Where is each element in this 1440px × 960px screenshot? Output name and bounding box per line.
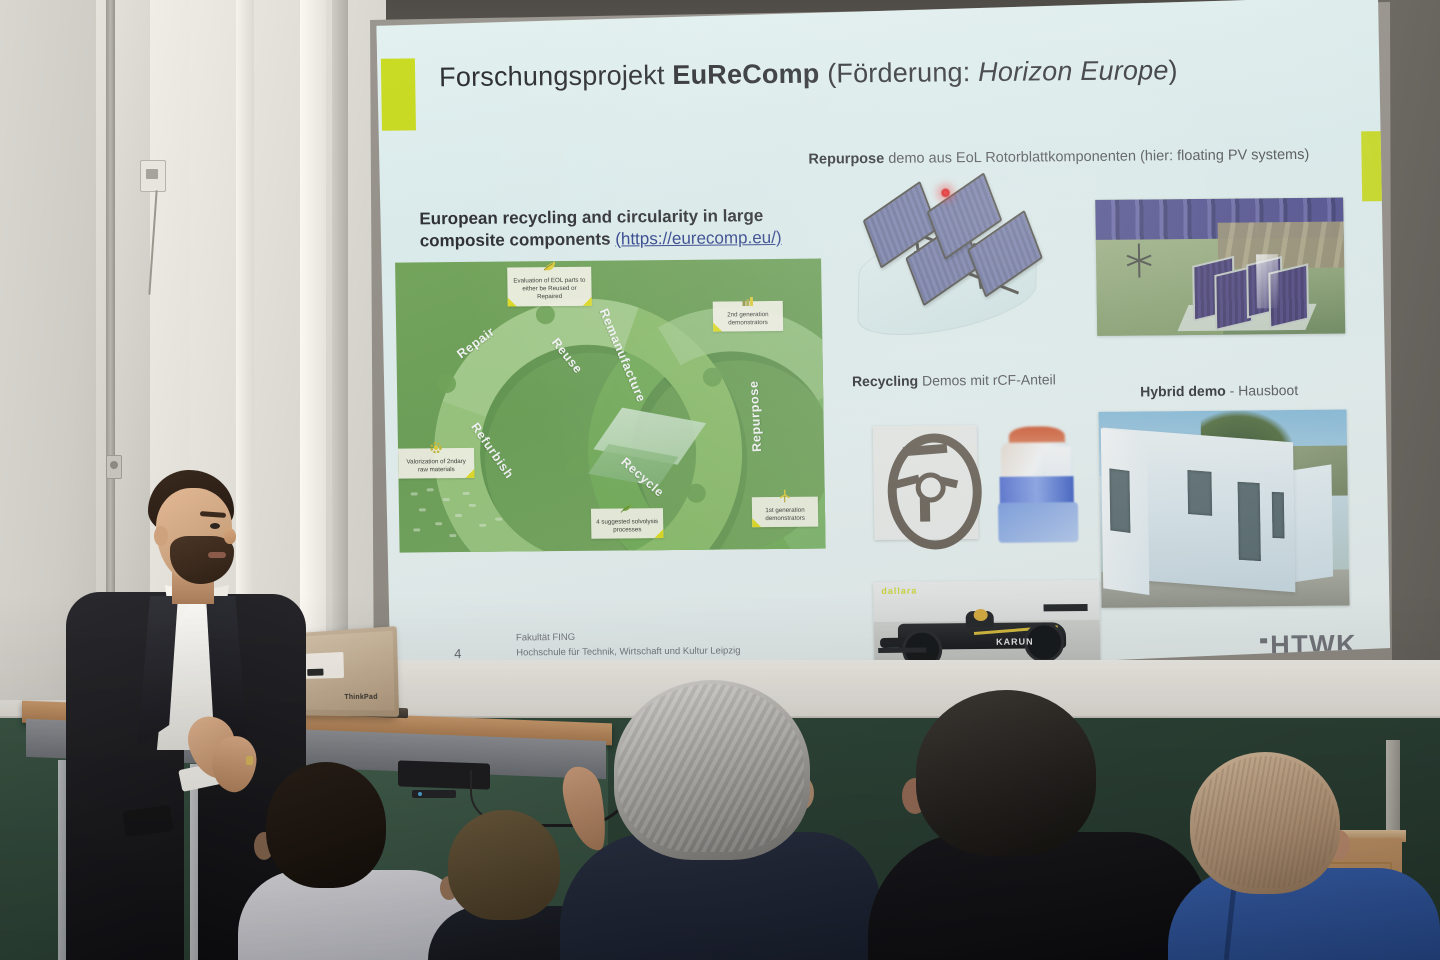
- callout-text: 4 suggested solvolysis processes: [596, 518, 658, 534]
- factory-icon: [740, 293, 755, 308]
- leaves-icon: [619, 500, 634, 515]
- callout-solvolysis: 4 suggested solvolysis processes: [591, 508, 663, 539]
- gear-icon: [428, 440, 443, 455]
- callout-eol-evaluation: Evaluation of EOL parts to either be Reu…: [507, 267, 592, 306]
- audience-raised-hand: [559, 763, 611, 854]
- presenter-nose: [224, 528, 236, 544]
- puzzle-notch: [566, 457, 585, 476]
- screenshot-root: Forschungsprojekt EuReComp (Förderung: H…: [0, 0, 1440, 960]
- rcf-steering-wheel-photo: [873, 425, 979, 540]
- circular-economy-diagram: Repair Reuse Remanufacture Repurpose Rec…: [395, 259, 826, 553]
- hybrid-description: - Hausboot: [1226, 382, 1299, 399]
- eurecomp-link[interactable]: (https://eurecomp.eu/): [615, 228, 782, 249]
- dallara-brand-text: dallara: [881, 586, 917, 596]
- footer-institution: Hochschule für Technik, Wirtschaft und K…: [516, 644, 740, 661]
- title-close: ): [1168, 55, 1178, 85]
- hybrid-label: Hybrid demo: [1140, 383, 1226, 400]
- left-section-heading: European recycling and circularity in la…: [419, 205, 810, 253]
- repurpose-caption: Repurpose demo aus EoL Rotorblattkompone…: [808, 146, 1368, 167]
- accent-block-left: [381, 58, 416, 130]
- puzzle-notch: [437, 374, 456, 393]
- callout-text: 1st generation demonstrators: [765, 507, 805, 523]
- composite-simulation-render: [989, 424, 1093, 549]
- callout-text: Evaluation of EOL parts to either be Reu…: [513, 277, 585, 301]
- hybrid-demo-caption: Hybrid demo - Hausboot: [1140, 382, 1298, 400]
- audience-member-blue-shirt: [1168, 752, 1440, 960]
- laptop-brand-text: ThinkPad: [344, 694, 377, 701]
- wall-socket[interactable]: [140, 160, 166, 192]
- callout-text: 2nd generation demonstrators: [727, 311, 768, 327]
- leaf-icon: [542, 259, 557, 274]
- title-project-name: EuReComp: [672, 59, 820, 90]
- recycling-description: Demos mit rCF-Anteil: [918, 371, 1056, 388]
- audience-member-grey-hair: [560, 680, 880, 960]
- callout-valorization: Valorization of 2ndary raw materials: [398, 448, 474, 479]
- puzzle-notch: [687, 484, 706, 503]
- slide-title: Forschungsprojekt EuReComp (Förderung: H…: [439, 54, 1319, 93]
- audience-member-dark: [868, 690, 1208, 960]
- recycling-demo-images: [871, 424, 1099, 550]
- title-prefix: Forschungsprojekt: [439, 60, 673, 92]
- slide-footer: Fakultät FING Hochschule für Technik, Wi…: [516, 629, 741, 661]
- door-frame-edge: [332, 0, 348, 730]
- projection-screen: Forschungsprojekt EuReComp (Förderung: H…: [366, 0, 1391, 692]
- callout-text: Valorization of 2ndary raw materials: [406, 458, 465, 474]
- title-funding-open: (Förderung:: [819, 57, 978, 89]
- presenter-ear: [154, 526, 168, 546]
- puzzle-notch: [536, 305, 555, 324]
- laser-pointer-dot: [940, 187, 951, 198]
- car-body-text: KARUN: [996, 637, 1034, 647]
- callout-first-generation: 1st generation demonstrators: [752, 497, 818, 528]
- logo-bar-icon: [1260, 638, 1267, 643]
- hausboot-hybrid-demo-photo: [1098, 410, 1349, 608]
- diagram-ground-texture: [407, 483, 528, 542]
- slide-page-number: 4: [454, 646, 461, 661]
- wind-turbine-icon: [777, 489, 792, 504]
- presenter-eye: [210, 523, 220, 529]
- repurpose-label: Repurpose: [808, 151, 884, 168]
- recycling-label: Recycling: [852, 373, 918, 390]
- title-programme: Horizon Europe: [978, 55, 1169, 87]
- heading-line-2: composite components: [420, 230, 616, 251]
- heading-line-1: European recycling and circularity in la…: [419, 206, 763, 228]
- floating-pv-prototype-photo: [1095, 198, 1345, 336]
- presenter-mouth: [208, 552, 226, 558]
- callout-second-generation: 2nd generation demonstrators: [713, 301, 783, 332]
- repurpose-description: demo aus EoL Rotorblattkomponenten (hier…: [884, 147, 1309, 167]
- puzzle-notch: [703, 367, 722, 386]
- floating-pv-cad-render: [847, 184, 1049, 334]
- recycling-caption: Recycling Demos mit rCF-Anteil: [852, 371, 1056, 389]
